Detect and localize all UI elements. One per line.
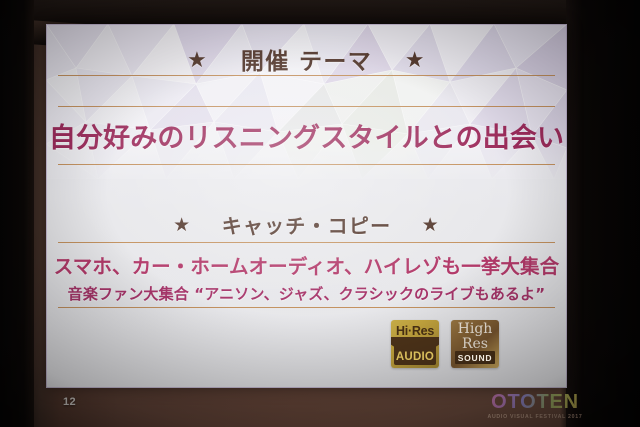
hi-res-audio-logo: Hi·Res AUDIO — [391, 320, 439, 368]
page-number: 12 — [63, 396, 76, 408]
catch-copy-heading: ★ キャッチ・コピー ★ — [46, 210, 567, 239]
photo-of-projected-slide: ★ 開催 テーマ ★ 自分好みのリスニングスタイルとの出会い ★ キャッチ・コピ… — [0, 0, 640, 427]
theme-heading: ★ 開催 テーマ ★ — [46, 42, 567, 76]
divider-line-4 — [58, 242, 555, 243]
ototen-wordmark: OTOTEN — [476, 392, 594, 412]
theme-heading-text: 開催 テーマ — [241, 49, 372, 75]
hi-res-audio-bottom-text: AUDIO — [391, 351, 439, 363]
high-res-sound-top-text: High Res — [451, 322, 499, 351]
projection-screen: ★ 開催 テーマ ★ 自分好みのリスニングスタイルとの出会い ★ キャッチ・コピ… — [46, 24, 567, 388]
slide-content: ★ 開催 テーマ ★ 自分好みのリスニングスタイルとの出会い ★ キャッチ・コピ… — [46, 24, 567, 388]
catch-copy-heading-text: キャッチ・コピー — [222, 214, 392, 238]
star-icon-right-2: ★ — [422, 214, 440, 236]
high-res-sound-line2: Res — [451, 337, 499, 352]
main-message-text: 自分好みのリスニングスタイルとの出会い — [46, 116, 567, 155]
high-res-sound-bottom-text: SOUND — [451, 353, 499, 363]
certification-logos: Hi·Res AUDIO High Res SOUND — [391, 320, 499, 368]
star-icon-left-2: ★ — [173, 214, 191, 236]
star-icon-right: ★ — [405, 48, 426, 73]
ototen-event-logo: OTOTEN AUDIO VISUAL FESTIVAL 2017 — [476, 392, 594, 421]
copy-line-2: 音楽ファン大集合 “アニソン、ジャズ、クラシックのライブもあるよ” — [46, 283, 567, 304]
divider-line-2 — [58, 106, 555, 107]
left-dark-area — [0, 0, 34, 427]
divider-line-3 — [58, 164, 555, 165]
high-res-sound-line1: High — [451, 322, 499, 337]
high-res-sound-logo: High Res SOUND — [451, 320, 499, 368]
divider-line-5 — [58, 307, 555, 308]
star-icon-left: ★ — [187, 48, 208, 73]
ototen-subtitle: AUDIO VISUAL FESTIVAL 2017 — [476, 413, 594, 421]
hi-res-audio-top-text: Hi·Res — [391, 324, 439, 338]
copy-line-1: スマホ、カー・ホームオーディオ、ハイレゾも一挙大集合 — [46, 250, 567, 279]
right-dark-area — [566, 0, 640, 427]
